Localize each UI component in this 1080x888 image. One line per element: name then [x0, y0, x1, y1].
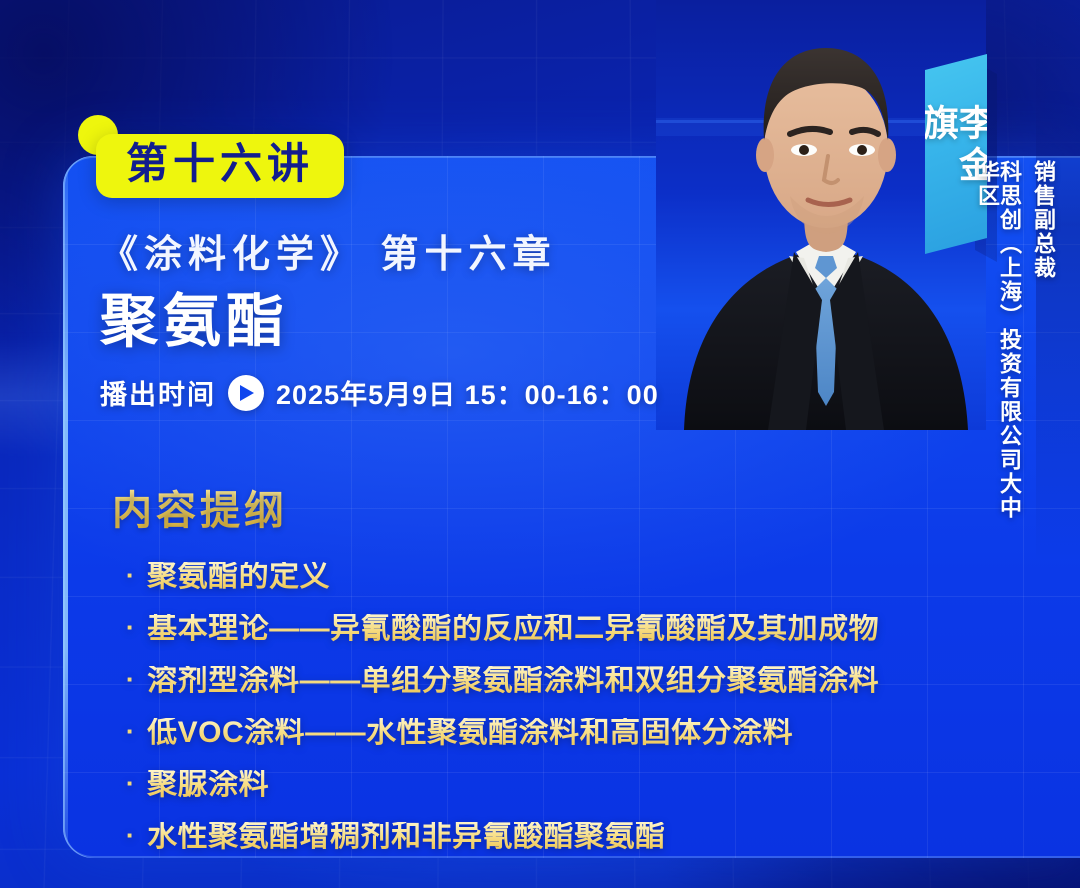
outline-item-label: 溶剂型涂料——单组分聚氨酯涂料和双组分聚氨酯涂料: [147, 666, 879, 696]
play-icon[interactable]: [228, 375, 264, 411]
headline-block: 《涂料化学》 第十六章 聚氨酯 播出时间 2025年5月9日 15：00-16：…: [100, 232, 900, 412]
lecture-badge: 第十六讲: [96, 134, 344, 198]
outline-title: 内容提纲: [112, 478, 952, 536]
outline-item: ·基本理论——异氰酸酯的反应和二异氰酸酯及其加成物: [112, 614, 952, 644]
speaker-role: 销售副总裁: [1032, 160, 1054, 360]
outline-item-label: 水性聚氨酯增稠剂和非异氰酸酯聚氨酯: [147, 822, 666, 852]
outline-item-label: 基本理论——异氰酸酯的反应和二异氰酸酯及其加成物: [147, 614, 879, 644]
lecture-badge-wrap: 第十六讲: [78, 115, 344, 198]
bullet-icon: ·: [126, 666, 135, 693]
bullet-icon: ·: [126, 718, 135, 745]
page-title: 聚氨酯: [100, 290, 900, 354]
outline-list: ·聚氨酯的定义·基本理论——异氰酸酯的反应和二异氰酸酯及其加成物·溶剂型涂料——…: [112, 562, 952, 852]
outline-block: 内容提纲 ·聚氨酯的定义·基本理论——异氰酸酯的反应和二异氰酸酯及其加成物·溶剂…: [112, 478, 952, 874]
airtime-row: 播出时间 2025年5月9日 15：00-16：00: [100, 373, 900, 412]
bullet-icon: ·: [126, 822, 135, 849]
airtime-label: 播出时间: [100, 373, 216, 412]
outline-item-label: 低VOC涂料——水性聚氨酯涂料和高固体分涂料: [147, 718, 793, 748]
chapter-title: 《涂料化学》 第十六章: [100, 232, 900, 280]
outline-item: ·聚氨酯的定义: [112, 562, 952, 592]
outline-item: ·水性聚氨酯增稠剂和非异氰酸酯聚氨酯: [112, 822, 952, 852]
slide-stage: 李金旗 销售副总裁 科思创（上海）投资有限公司大中华区 第十六讲 《涂料化学》 …: [0, 0, 1080, 888]
outline-item: ·聚脲涂料: [112, 770, 952, 800]
outline-item-label: 聚脲涂料: [147, 770, 269, 800]
lecture-badge-label: 第十六讲: [126, 143, 314, 185]
bullet-icon: ·: [126, 562, 135, 589]
bullet-icon: ·: [126, 770, 135, 797]
airtime-value: 2025年5月9日 15：00-16：00: [276, 373, 659, 412]
speaker-company: 科思创（上海）投资有限公司大中华区: [976, 160, 1020, 520]
outline-item-label: 聚氨酯的定义: [147, 562, 330, 592]
bullet-icon: ·: [126, 614, 135, 641]
outline-item: ·低VOC涂料——水性聚氨酯涂料和高固体分涂料: [112, 718, 952, 748]
panel-left-edge-highlight: [63, 156, 68, 858]
outline-item: ·溶剂型涂料——单组分聚氨酯涂料和双组分聚氨酯涂料: [112, 666, 952, 696]
